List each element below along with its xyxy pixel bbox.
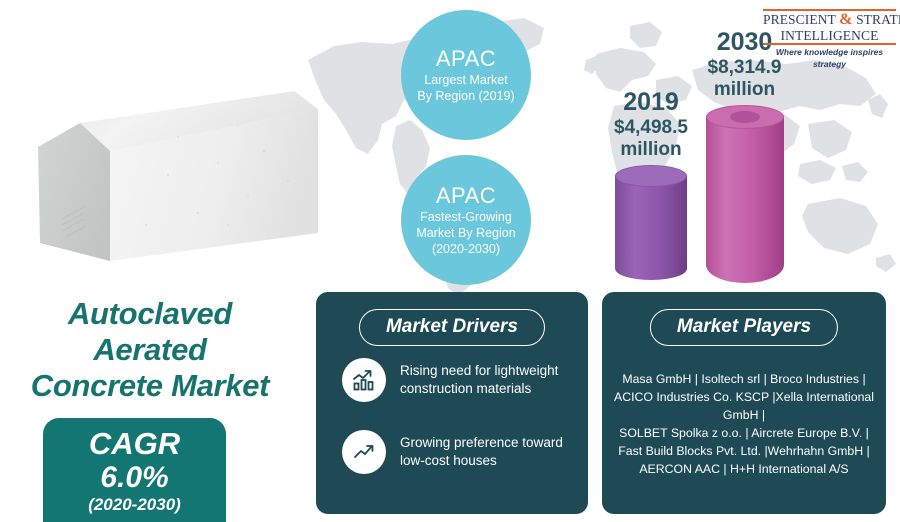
logo-ampersand: & (839, 11, 852, 28)
company-logo: PRESCIENT & STRATEGIC INTELLIGENCE Where… (763, 9, 896, 70)
logo-line-1: PRESCIENT & STRATEGIC (763, 12, 896, 28)
logo-tagline: Where knowledge inspires strategy (763, 46, 896, 70)
bar-2030-cylinder-inner-hole (730, 111, 760, 123)
bar-2019-cylinder (615, 165, 687, 280)
cagr-period: (2020-2030) (43, 494, 226, 516)
logo-top-rule (763, 9, 896, 11)
page-title: Autoclaved Aerated Concrete Market (0, 296, 300, 404)
logo-bottom-rule (763, 43, 896, 45)
bar-2030-cylinder-body (706, 117, 784, 283)
bar-chart-growth-icon (342, 358, 386, 402)
logo-word-prescient: PRESCIENT (763, 12, 836, 27)
page-title-line-1: Autoclaved (0, 296, 300, 332)
bar-2030-cylinder (706, 105, 784, 283)
page-title-line-3: Concrete Market (0, 368, 300, 404)
market-players-line: Masa GmbH | Isoltech srl | Broco Industr… (614, 370, 874, 388)
apac-circle-1-subtitle-line-2: By Region (2019) (409, 88, 522, 104)
bar-2030-amount-line-2: million (682, 79, 807, 101)
apac-circle-2-subtitle-line-3: (2020-2030) (424, 241, 508, 257)
apac-fastest-growing-circle: APAC Fastest-Growing Market By Region (2… (401, 155, 531, 285)
market-players-line: ACICO Industries Co. KSCP |Xella Interna… (614, 388, 874, 424)
apac-circle-1-subtitle-line-1: Largest Market (416, 72, 515, 88)
market-players-line: SOLBET Spolka z o.o. | Aircrete Europe B… (614, 424, 874, 442)
market-driver-text: Rising need for lightweight construction… (400, 362, 558, 398)
infographic-canvas: Autoclaved Aerated Concrete Market CAGR … (0, 0, 900, 522)
market-driver-0-line-2: construction materials (400, 380, 558, 398)
market-drivers-heading: Market Drivers (359, 309, 545, 346)
logo-word-strategic: STRATEGIC (856, 12, 900, 27)
apac-largest-market-circle: APAC Largest Market By Region (2019) (401, 10, 531, 140)
cagr-label: CAGR (43, 427, 226, 461)
market-driver-item: Rising need for lightweight construction… (342, 358, 568, 402)
apac-circle-2-subtitle-line-1: Fastest-Growing (412, 209, 520, 225)
market-driver-item: Growing preference toward low-cost house… (342, 430, 568, 474)
trending-up-icon (342, 430, 386, 474)
cagr-box: CAGR 6.0% (2020-2030) (43, 418, 226, 522)
market-driver-1-line-1: Growing preference toward (400, 434, 563, 452)
page-title-line-2: Aerated (0, 332, 300, 368)
market-drivers-panel: Market Drivers Rising need for lightwe (316, 292, 588, 514)
market-driver-1-line-2: low-cost houses (400, 452, 563, 470)
apac-circle-2-title: APAC (436, 183, 496, 209)
logo-line-2: INTELLIGENCE (763, 28, 896, 43)
market-players-line: AERCON AAC | H+H International A/S (614, 460, 874, 478)
market-players-line: Fast Build Blocks Pvt. Ltd. |Wehrhahn Gm… (614, 442, 874, 460)
apac-circle-1-title: APAC (436, 46, 496, 72)
bar-2019-cylinder-body (615, 176, 687, 280)
market-players-list: Masa GmbH | Isoltech srl | Broco Industr… (614, 370, 874, 478)
market-players-panel: Market Players Masa GmbH | Isoltech srl … (602, 292, 886, 514)
aac-concrete-block-image (18, 85, 318, 295)
cagr-value: 6.0% (43, 461, 226, 494)
apac-circle-2-subtitle-line-2: Market By Region (408, 225, 523, 241)
market-driver-text: Growing preference toward low-cost house… (400, 434, 563, 470)
market-players-heading: Market Players (650, 309, 838, 346)
bar-2019-cylinder-top (615, 165, 687, 187)
market-driver-0-line-1: Rising need for lightweight (400, 362, 558, 380)
